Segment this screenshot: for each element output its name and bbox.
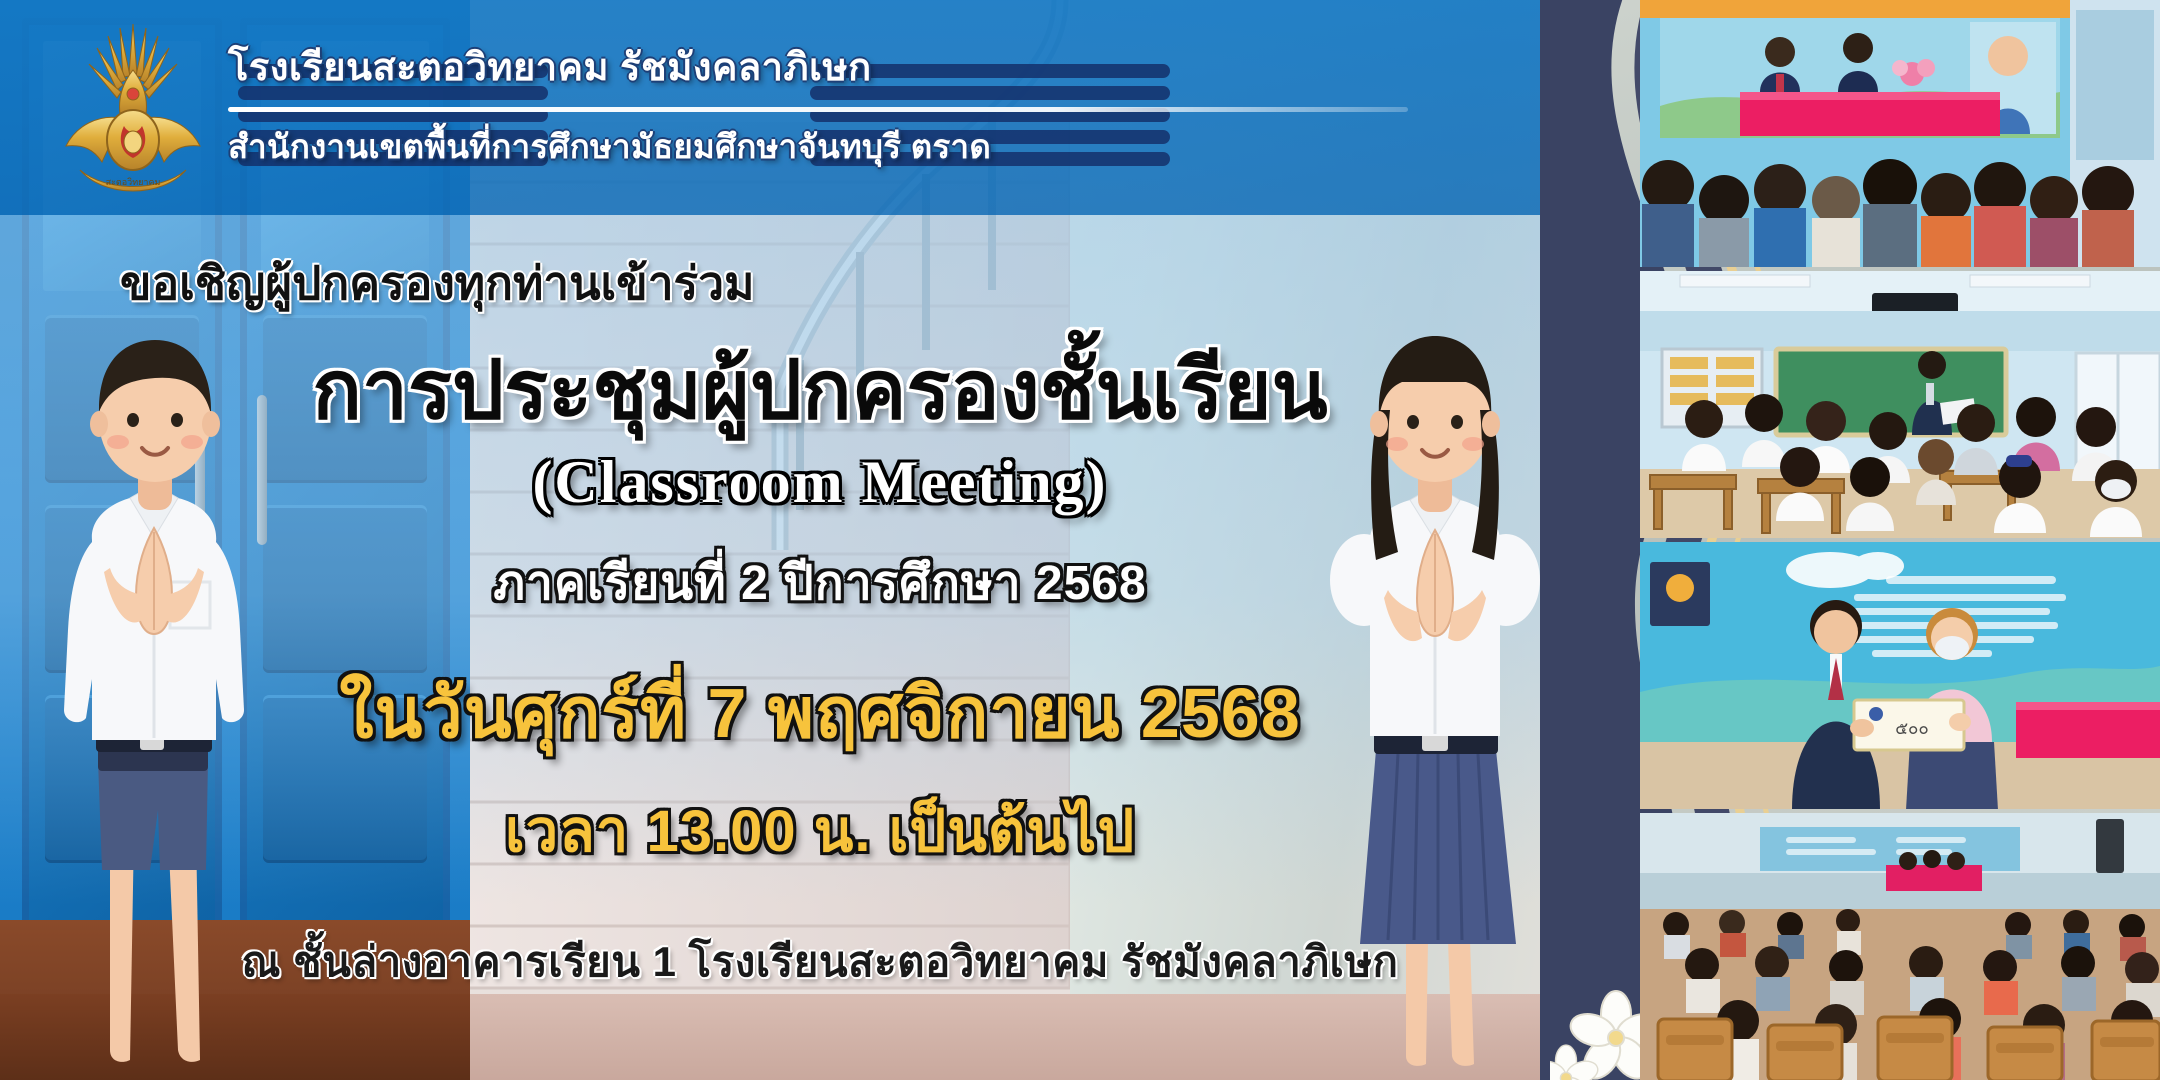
photo-certificate-award[interactable]: ๕๐๐ bbox=[1640, 542, 2160, 809]
event-time-line: เวลา 13.00 น. เป็นต้นไป bbox=[505, 784, 1135, 877]
photo1-svg bbox=[1640, 0, 2160, 267]
photo-stack: ๕๐๐ bbox=[1640, 0, 2160, 1080]
event-date-line: ในวันศุกร์ที่ 7 พฤศจิกายน 2568 bbox=[339, 657, 1300, 768]
boy-illustration-svg bbox=[18, 290, 298, 1080]
svg-text:๕๐๐: ๕๐๐ bbox=[1895, 719, 1929, 738]
svg-text:สะตอวิทยาคม: สะตอวิทยาคม bbox=[106, 177, 161, 187]
header-divider bbox=[228, 107, 1408, 112]
photo4-svg bbox=[1640, 813, 2160, 1080]
semester-line: ภาคเรียนที่ 2 ปีการศึกษา 2568 bbox=[493, 545, 1146, 621]
photo-audience-seated[interactable] bbox=[1640, 813, 2160, 1080]
girl-illustration-svg bbox=[1290, 290, 1580, 1080]
page-title-thai: การประชุมผู้ปกครองชั้นเรียน bbox=[312, 348, 1327, 434]
event-venue-line: ณ ชั้นล่างอาคารเรียน 1 โรงเรียนสะตอวิทยา… bbox=[242, 929, 1399, 995]
photo3-svg: ๕๐๐ bbox=[1640, 542, 2160, 809]
photo2-svg bbox=[1640, 271, 2160, 538]
poster-header: สะตอวิทยาคม โรงเรียนสะตอวิทยาคม รัชมังคล… bbox=[0, 0, 1640, 215]
header-text-block: โรงเรียนสะตอวิทยาคม รัชมังคลาภิเษก สำนัก… bbox=[228, 36, 1408, 173]
photo-sidebar: ๕๐๐ bbox=[1540, 0, 2160, 1080]
school-name: โรงเรียนสะตอวิทยาคม รัชมังคลาภิเษก bbox=[228, 36, 1408, 97]
poster-canvas: สะตอวิทยาคม โรงเรียนสะตอวิทยาคม รัชมังคล… bbox=[0, 0, 2160, 1080]
student-girl-wai bbox=[1290, 290, 1580, 1080]
photo-classroom-meeting[interactable] bbox=[1640, 271, 2160, 538]
education-office-name: สำนักงานเขตพื้นที่การศึกษามัธยมศึกษาจันท… bbox=[228, 120, 1408, 173]
photo-assembly-hall-stage[interactable] bbox=[1640, 0, 2160, 267]
thai-royal-garuda-crest-icon: สะตอวิทยาคม bbox=[58, 22, 208, 200]
crest-svg: สะตอวิทยาคม bbox=[58, 22, 208, 200]
page-title-english: (Classroom Meeting) bbox=[532, 448, 1107, 517]
student-boy-wai bbox=[18, 290, 298, 1080]
